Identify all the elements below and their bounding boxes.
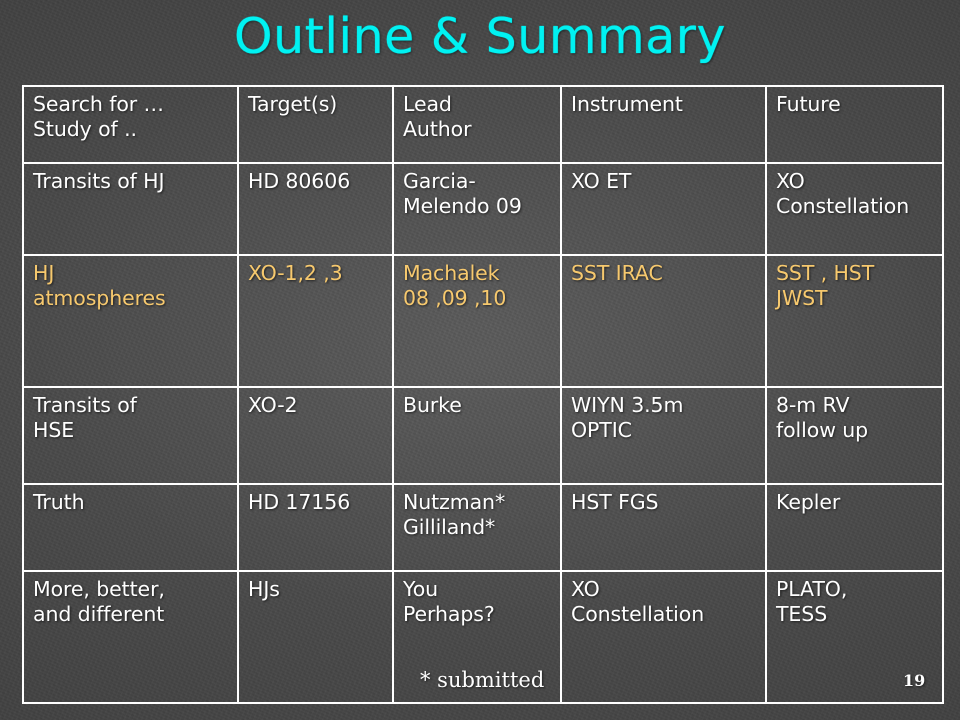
cell-search-for: Truth <box>23 484 238 571</box>
cell-line-2: Gilliland* <box>403 515 560 540</box>
cell-line-1: Transits of HJ <box>33 169 237 194</box>
table-row: Transits of HSE XO-2 Burke WIYN 3.5m OPT… <box>23 387 943 484</box>
cell-line-1: Truth <box>33 490 237 515</box>
cell-line-2: HSE <box>33 418 237 443</box>
cell-search-for: More, better, and different <box>23 571 238 703</box>
cell-lead-author: Machalek 08 ,09 ,10 <box>393 255 561 387</box>
cell-future: Kepler <box>766 484 943 571</box>
cell-line-2: and different <box>33 602 237 627</box>
cell-line-1: Future <box>776 92 942 117</box>
cell-line-2: Author <box>403 117 560 142</box>
cell-line-1: Nutzman* <box>403 490 560 515</box>
cell-line-2: Study of .. <box>33 117 237 142</box>
table-row: Transits of HJ HD 80606 Garcia- Melendo … <box>23 163 943 255</box>
table-row-highlighted: HJ atmospheres XO-1,2 ,3 Machalek 08 ,09… <box>23 255 943 387</box>
cell-line-1: 8-m RV <box>776 393 942 418</box>
cell-future: SST , HST JWST <box>766 255 943 387</box>
cell-lead-author: Nutzman* Gilliland* <box>393 484 561 571</box>
cell-search-for: Transits of HJ <box>23 163 238 255</box>
cell-line-2: OPTIC <box>571 418 765 443</box>
header-cell-instrument: Instrument <box>561 86 766 163</box>
cell-line-1: SST , HST <box>776 261 942 286</box>
cell-line-1: Garcia- <box>403 169 560 194</box>
cell-line-1: Lead <box>403 92 560 117</box>
cell-lead-author: Garcia- Melendo 09 <box>393 163 561 255</box>
cell-lead-author: Burke <box>393 387 561 484</box>
page-title: Outline & Summary <box>0 12 960 61</box>
cell-line-1: More, better, <box>33 577 237 602</box>
header-cell-lead-author: Lead Author <box>393 86 561 163</box>
cell-instrument: SST IRAC <box>561 255 766 387</box>
table-row: Truth HD 17156 Nutzman* Gilliland* HST F… <box>23 484 943 571</box>
cell-targets: HD 80606 <box>238 163 393 255</box>
cell-line-1: XO-1,2 ,3 <box>248 261 392 286</box>
cell-line-1: HD 17156 <box>248 490 392 515</box>
cell-line-1: Machalek <box>403 261 560 286</box>
cell-line-2: JWST <box>776 286 942 311</box>
cell-line-1: PLATO, <box>776 577 942 602</box>
cell-line-1: Burke <box>403 393 560 418</box>
cell-future: XO Constellation <box>766 163 943 255</box>
cell-future: 8-m RV follow up <box>766 387 943 484</box>
cell-line-1: Instrument <box>571 92 765 117</box>
cell-line-1: XO ET <box>571 169 765 194</box>
cell-line-2: 08 ,09 ,10 <box>403 286 560 311</box>
cell-line-1: SST IRAC <box>571 261 765 286</box>
header-cell-future: Future <box>766 86 943 163</box>
cell-line-1: HJ <box>33 261 237 286</box>
cell-search-for: HJ atmospheres <box>23 255 238 387</box>
cell-targets: HJs <box>238 571 393 703</box>
cell-line-1: HST FGS <box>571 490 765 515</box>
cell-line-2: Constellation <box>571 602 765 627</box>
cell-instrument: HST FGS <box>561 484 766 571</box>
cell-instrument: XO Constellation <box>561 571 766 703</box>
cell-line-2: atmospheres <box>33 286 237 311</box>
cell-line-1: Transits of <box>33 393 237 418</box>
footnote: * submitted <box>420 668 544 692</box>
cell-line-2: Perhaps? <box>403 602 560 627</box>
presentation-slide: Outline & Summary Search for … Study of … <box>0 0 960 720</box>
cell-line-1: You <box>403 577 560 602</box>
cell-search-for: Transits of HSE <box>23 387 238 484</box>
cell-line-2: follow up <box>776 418 942 443</box>
cell-line-2: Melendo 09 <box>403 194 560 219</box>
cell-line-2: TESS <box>776 602 942 627</box>
cell-line-1: XO-2 <box>248 393 392 418</box>
cell-line-1: HD 80606 <box>248 169 392 194</box>
cell-instrument: XO ET <box>561 163 766 255</box>
cell-line-1: HJs <box>248 577 392 602</box>
table-header-row: Search for … Study of .. Target(s) Lead … <box>23 86 943 163</box>
cell-line-1: Search for … <box>33 92 237 117</box>
page-number: 19 <box>903 671 925 690</box>
cell-line-1: XO <box>776 169 942 194</box>
cell-line-1: WIYN 3.5m <box>571 393 765 418</box>
cell-line-2: Constellation <box>776 194 942 219</box>
header-cell-targets: Target(s) <box>238 86 393 163</box>
header-cell-search-for: Search for … Study of .. <box>23 86 238 163</box>
cell-targets: HD 17156 <box>238 484 393 571</box>
cell-line-1: Target(s) <box>248 92 392 117</box>
cell-targets: XO-2 <box>238 387 393 484</box>
summary-table: Search for … Study of .. Target(s) Lead … <box>22 85 944 704</box>
cell-instrument: WIYN 3.5m OPTIC <box>561 387 766 484</box>
cell-line-1: XO <box>571 577 765 602</box>
cell-line-1: Kepler <box>776 490 942 515</box>
cell-targets: XO-1,2 ,3 <box>238 255 393 387</box>
